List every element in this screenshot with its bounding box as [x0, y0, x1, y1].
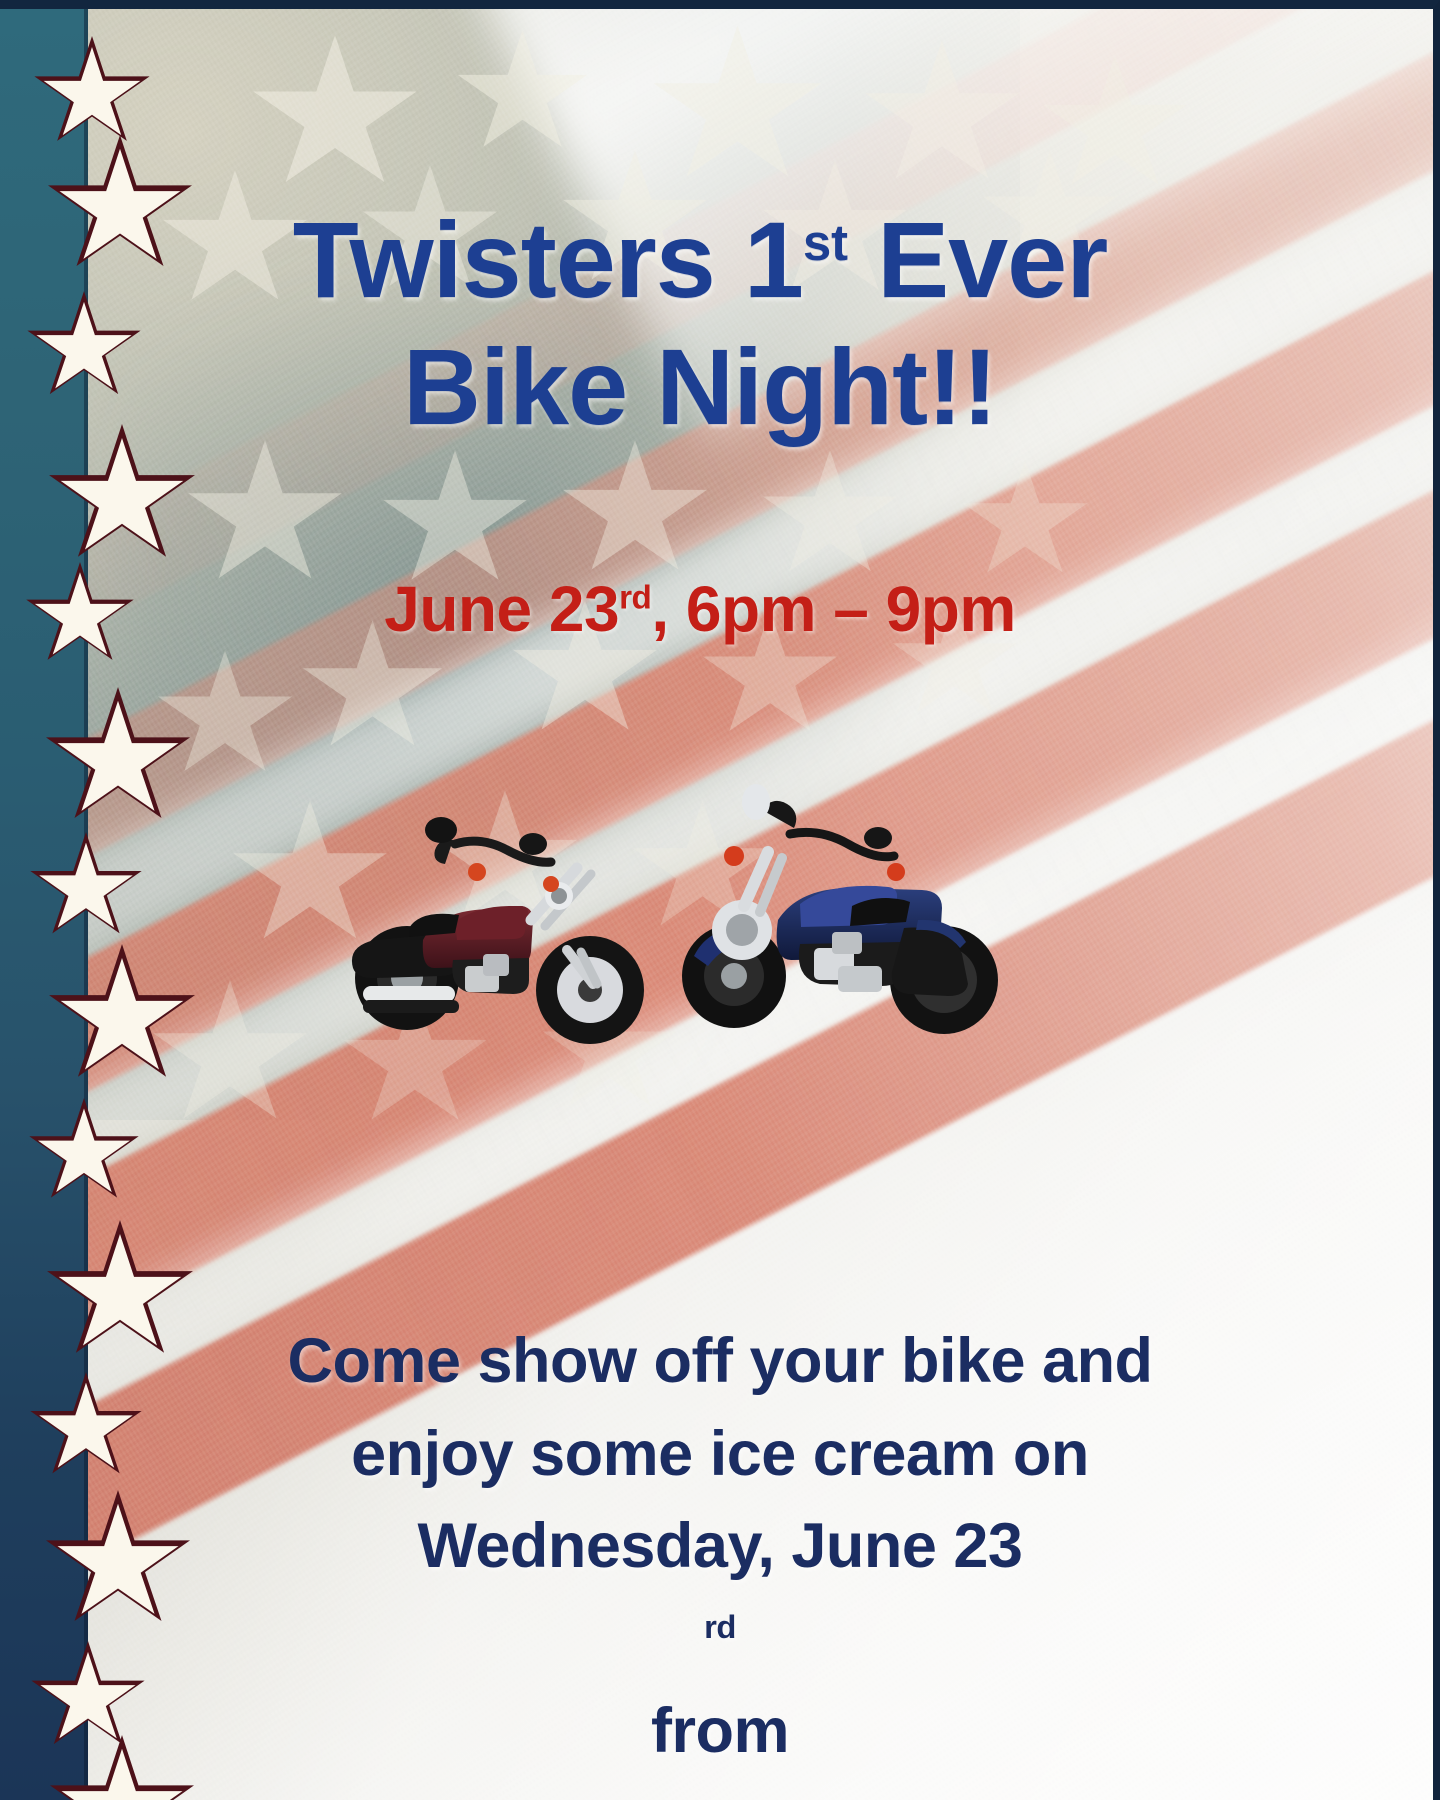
headline-line-1: Twisters 1st Ever: [293, 199, 1108, 320]
headline-line-1-post: Ever: [848, 199, 1107, 320]
body-line-4: 6pm-9pm!!: [170, 1778, 1270, 1800]
dateline-post: , 6pm – 9pm: [651, 573, 1015, 645]
body-line-3-pre: Wednesday, June 23: [170, 1500, 1270, 1593]
headline-line-2: Bike Night!!: [200, 323, 1200, 450]
dateline-ordinal-suffix: rd: [619, 580, 651, 617]
headline-ordinal-suffix: st: [803, 214, 848, 271]
flyer-poster: Twisters 1st Ever Bike Night!! June 23rd…: [0, 0, 1440, 1800]
event-dateline: June 23rd, 6pm – 9pm: [170, 572, 1230, 646]
body-ordinal-suffix: rd: [704, 1608, 736, 1645]
body-line-3-post: from: [170, 1685, 1270, 1778]
body-line-1: Come show off your bike and: [170, 1315, 1270, 1408]
dateline-pre: June 23: [384, 573, 619, 645]
page-title: Twisters 1st Ever Bike Night!!: [200, 196, 1200, 451]
event-description: Come show off your bike and enjoy some i…: [170, 1315, 1270, 1800]
body-line-2: enjoy some ice cream on: [170, 1408, 1270, 1501]
left-star-band: [0, 0, 88, 1800]
body-line-3: Wednesday, June 23rd from: [170, 1500, 1270, 1778]
headline-line-1-pre: Twisters 1: [293, 199, 803, 320]
